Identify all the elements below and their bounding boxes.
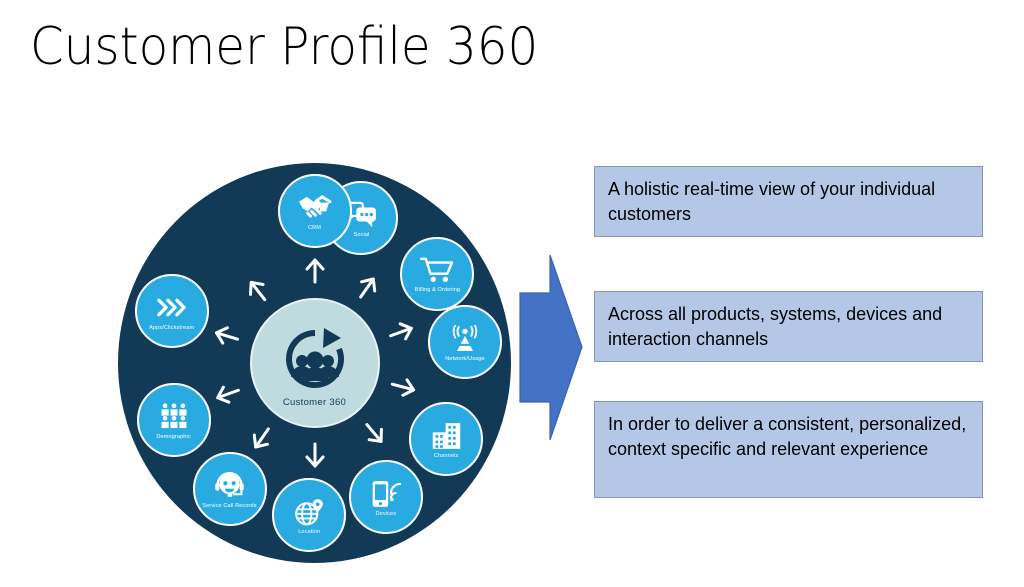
ring-node-channels[interactable]: Channels	[409, 402, 483, 476]
callout-box-2: Across all products, systems, devices an…	[594, 291, 983, 362]
ring-node-service-call-records[interactable]: Service Call Records	[193, 452, 267, 526]
ring-node-billing-ordering[interactable]: Billing & Ordering	[400, 237, 474, 311]
chevrons-icon	[154, 293, 190, 323]
right-chevron-arrow-icon	[512, 255, 590, 440]
ring-node-label: Service Call Records	[202, 503, 256, 510]
ring-node-label: Apps/Clickstream	[149, 325, 194, 332]
headset-agent-icon	[212, 471, 248, 501]
ring-node-label: Location	[298, 529, 320, 536]
ring-node-network-usage[interactable]: Network/Usage	[428, 305, 502, 379]
ring-node-label: Billing & Ordering	[415, 287, 460, 294]
globe-pin-icon	[291, 497, 327, 527]
ring-node-label: Demographic	[156, 434, 190, 441]
center-hub[interactable]: Customer 360	[250, 298, 380, 428]
people-refresh-icon	[278, 325, 352, 395]
callout-box-1: A holistic real-time view of your indivi…	[594, 166, 983, 237]
ring-node-label: Channels	[434, 453, 458, 460]
center-hub-label: Customer 360	[283, 397, 346, 408]
ring-node-label: CRM	[308, 225, 321, 232]
handshake-icon	[297, 193, 333, 223]
ring-node-devices[interactable]: Devices	[349, 460, 423, 534]
ring-node-label: Network/Usage	[445, 356, 485, 363]
shopping-cart-icon	[419, 255, 455, 285]
antenna-tower-icon	[447, 324, 483, 354]
mobile-wifi-icon	[368, 479, 404, 509]
ring-node-demographic[interactable]: Demographic	[137, 383, 211, 457]
page-title: Customer Profile 360	[30, 17, 538, 77]
ring-node-label: Social	[354, 232, 370, 239]
customer-360-diagram: SocialCRMBilling & OrderingNetwork/Usage…	[118, 163, 511, 563]
ring-node-label: Devices	[376, 511, 397, 518]
ring-node-apps-clickstream[interactable]: Apps/Clickstream	[135, 274, 209, 348]
people-group-icon	[156, 402, 192, 432]
callout-box-3: In order to deliver a consistent, person…	[594, 401, 983, 498]
buildings-icon	[428, 421, 464, 451]
ring-node-crm[interactable]: CRM	[278, 174, 352, 248]
ring-node-location[interactable]: Location	[272, 478, 346, 552]
